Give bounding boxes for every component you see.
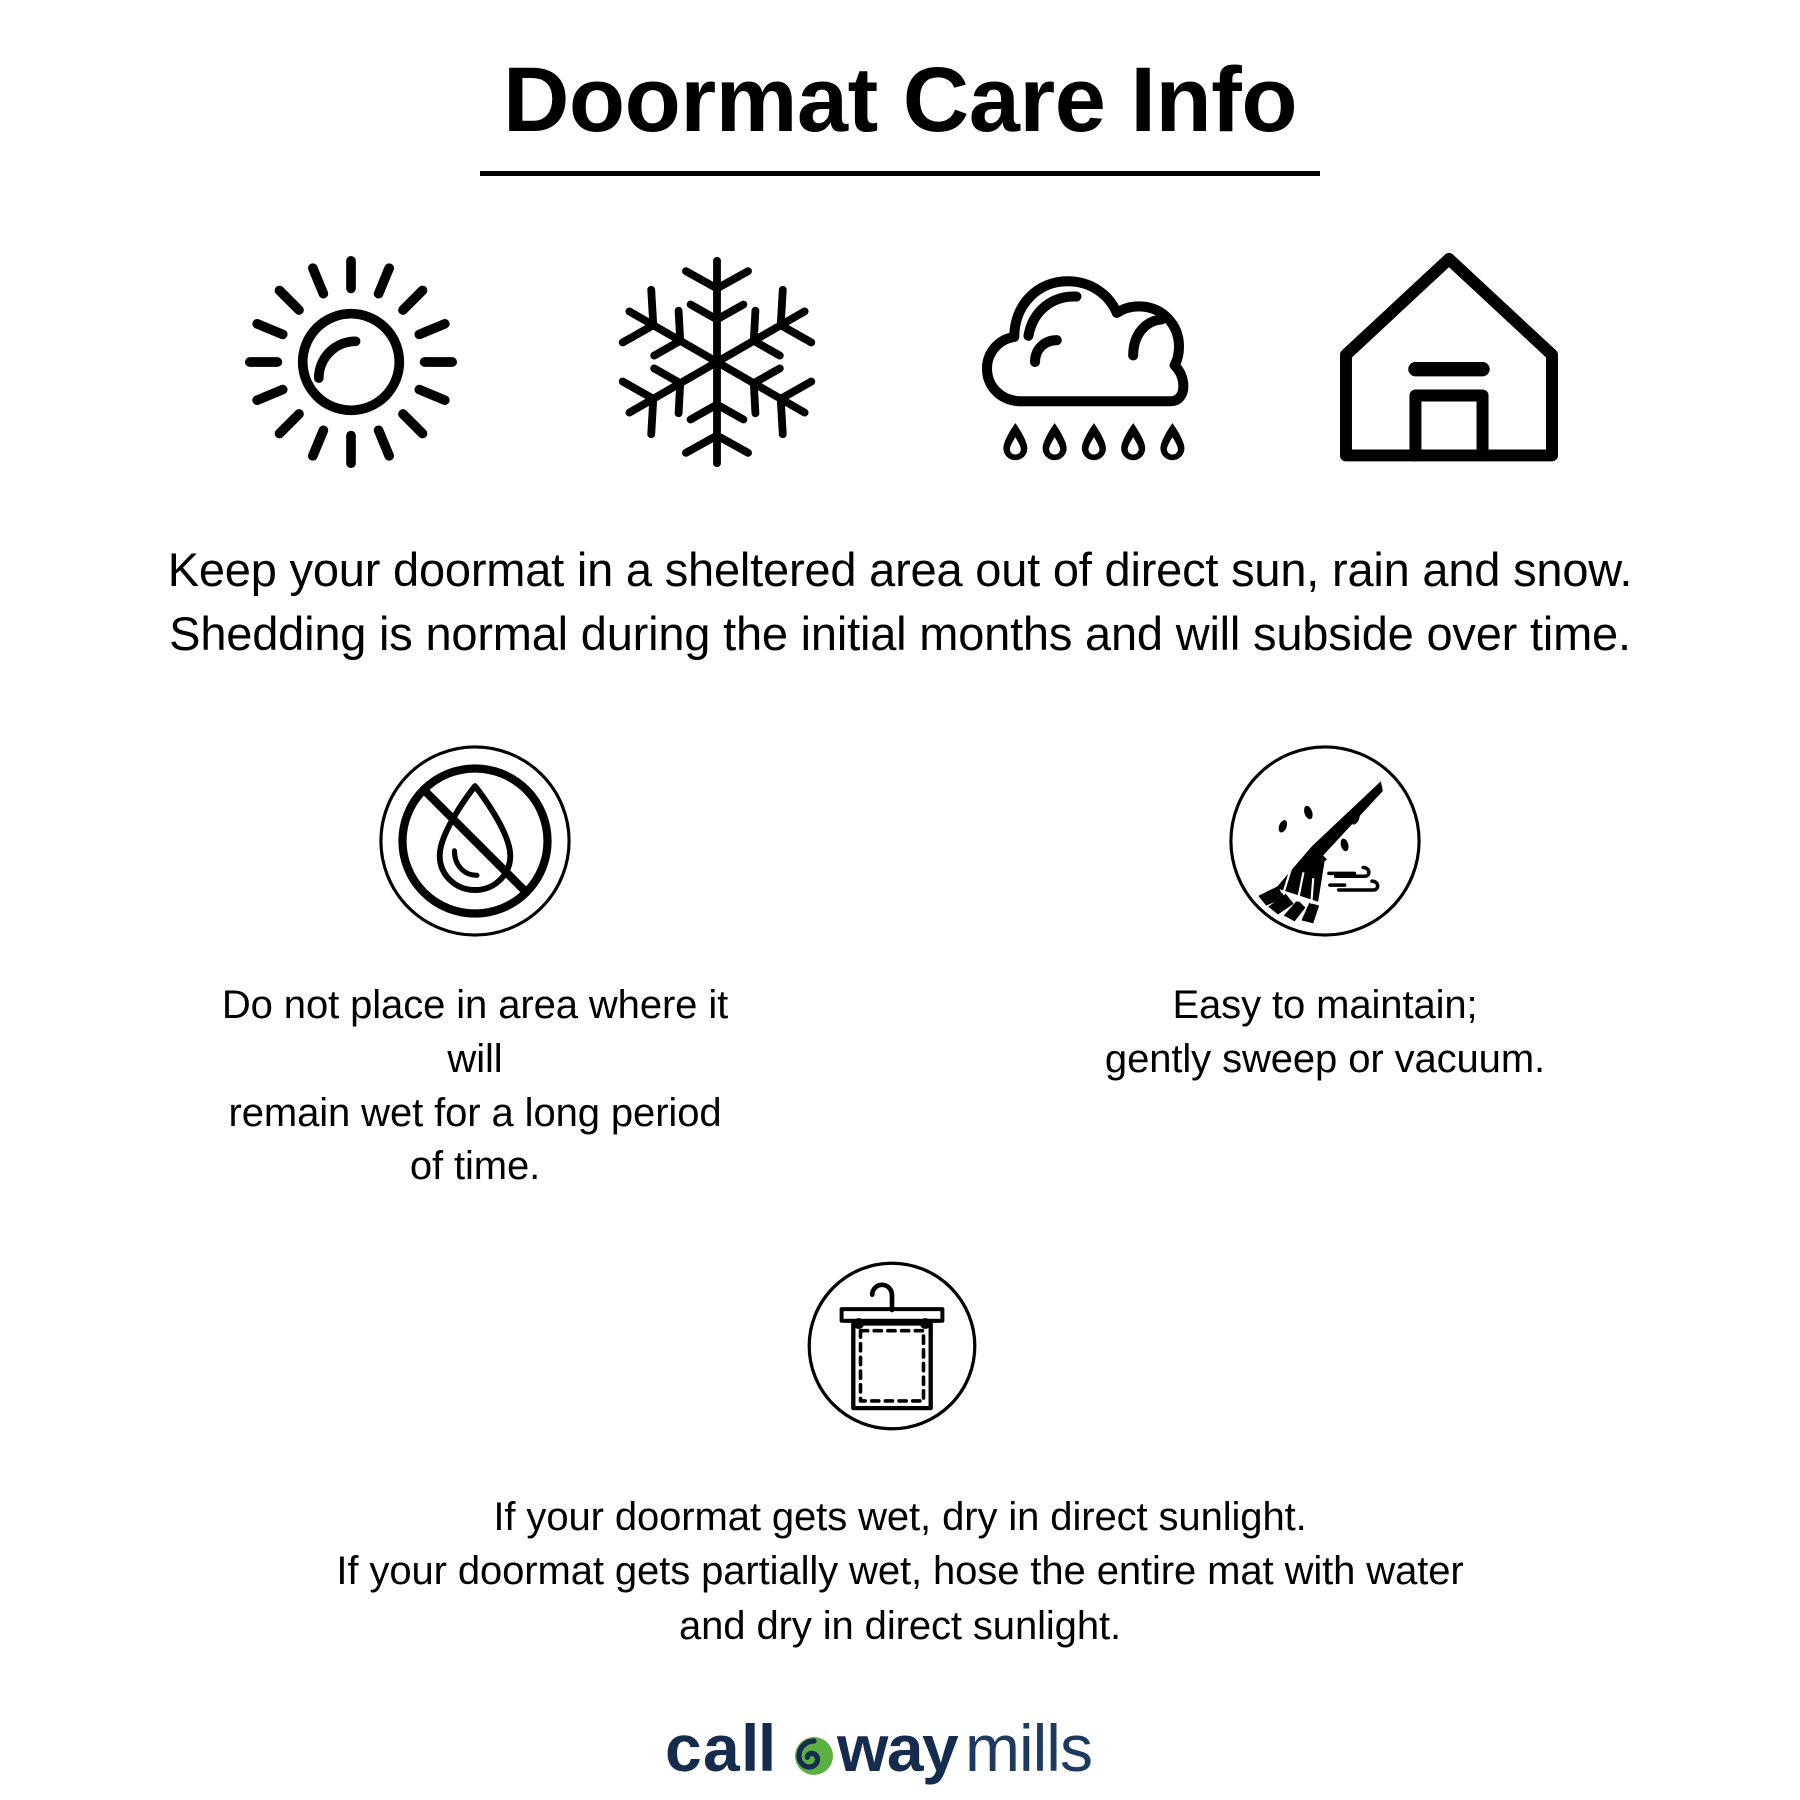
svg-text:way: way	[836, 1711, 959, 1785]
care-instructions-row: Do not place in area where it will remai…	[0, 743, 1800, 1193]
page-title: Doormat Care Info	[503, 52, 1297, 149]
care-item-no-standing-water: Do not place in area where it will remai…	[215, 743, 735, 1193]
calloway-mills-logo: c a ll way mills	[665, 1709, 1135, 1795]
care-caption-line-2: remain wet for a long period of time.	[215, 1087, 735, 1194]
intro-line-1: Keep your doormat in a sheltered area ou…	[80, 538, 1720, 602]
dry-caption-line-2: If your doormat gets partially wet, hose…	[336, 1544, 1463, 1598]
weather-icon-row	[0, 242, 1800, 482]
snowflake-icon	[597, 242, 837, 482]
care-caption-line-1: Easy to maintain;	[1105, 979, 1545, 1033]
brand-logo: c a ll way mills	[0, 1709, 1800, 1795]
care-item-hang-dry: If your doormat gets wet, dry in direct …	[0, 1256, 1800, 1653]
doormat-care-infographic: Doormat Care Info	[0, 0, 1800, 1800]
svg-text:ll: ll	[741, 1711, 775, 1785]
care-caption-line-1: Do not place in area where it will	[215, 979, 735, 1086]
intro-paragraph: Keep your doormat in a sheltered area ou…	[0, 538, 1800, 666]
hang-dry-icon	[802, 1256, 998, 1452]
care-caption-line-2: gently sweep or vacuum.	[1105, 1033, 1545, 1087]
care-item-sweep-vacuum: Easy to maintain; gently sweep or vacuum…	[1065, 743, 1585, 1086]
svg-text:c: c	[665, 1711, 700, 1785]
sun-icon	[231, 242, 471, 482]
dry-caption: If your doormat gets wet, dry in direct …	[336, 1490, 1463, 1653]
broom-icon	[1227, 743, 1423, 939]
house-icon	[1329, 242, 1569, 482]
svg-text:mills: mills	[965, 1711, 1092, 1785]
title-underline-rule	[480, 171, 1320, 176]
no-water-icon	[377, 743, 573, 939]
svg-text:a: a	[703, 1711, 741, 1785]
title-block: Doormat Care Info	[0, 0, 1800, 176]
care-caption-sweep: Easy to maintain; gently sweep or vacuum…	[1105, 979, 1545, 1086]
intro-line-2: Shedding is normal during the initial mo…	[80, 602, 1720, 666]
rain-cloud-icon	[963, 242, 1203, 482]
dry-caption-line-3: and dry in direct sunlight.	[336, 1599, 1463, 1653]
care-caption-no-water: Do not place in area where it will remai…	[215, 979, 735, 1193]
dry-caption-line-1: If your doormat gets wet, dry in direct …	[336, 1490, 1463, 1544]
